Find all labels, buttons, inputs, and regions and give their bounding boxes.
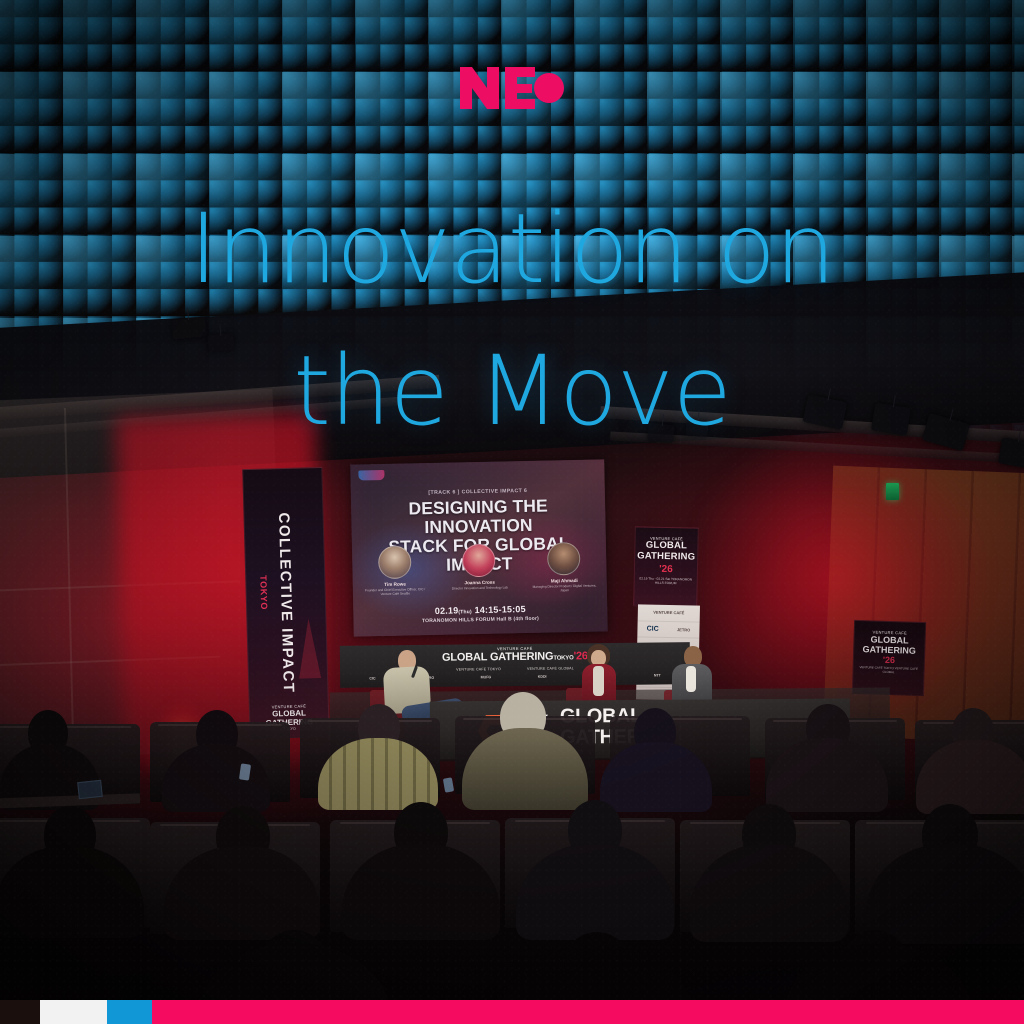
backdrop-sub-right: VENTURE CAFÉ GLOBAL	[527, 666, 574, 670]
headline-line-1: Innovation on	[0, 178, 1024, 320]
sponsor-row-2: CIC JETRO	[637, 621, 699, 639]
screen-title-line-1: DESIGNING THE INNOVATION	[357, 495, 600, 538]
headline-line-2: the Move	[0, 320, 1024, 462]
backdrop-sponsor-3: KDDI	[538, 675, 547, 679]
speaker-photo-1	[378, 545, 412, 579]
banner-left-vertical-text: COLLECTIVE IMPACT	[275, 512, 297, 693]
speaker-role-2: Director Innovation and Technology Lab	[445, 585, 515, 591]
event-poster: COLLECTIVE IMPACT TOKYO VENTURE CAFÉ GLO…	[0, 0, 1024, 1024]
neo-logo-svg	[460, 67, 564, 109]
screen-speaker-2: Joanna Cross Director Innovation and Tec…	[444, 543, 515, 591]
banner-global-gathering-far-right: VENTURE CAFÉ GLOBAL GATHERING '26 VENTUR…	[852, 620, 926, 696]
sponsor-row-1: VENTURE CAFÉ	[638, 604, 700, 622]
bottom-bar-segment-white	[40, 1000, 107, 1024]
speaker-photo-3	[547, 542, 581, 576]
neo-logo	[0, 67, 1024, 114]
panelist-center-shirt	[593, 666, 604, 696]
screen-corner-logo	[358, 470, 384, 481]
screen-speaker-3: Maji Ahmadi Managing Director Product / …	[529, 541, 600, 593]
screen-speaker-list: Tim Rowe Founder and Chief Executive Off…	[352, 541, 607, 596]
speaker-role-1: Founder and Chief Executive Officer, CIC…	[360, 587, 430, 597]
panelist-right-shirt	[686, 666, 696, 692]
bottom-color-bar	[0, 1000, 1024, 1024]
exit-sign	[886, 483, 899, 500]
backdrop-sponsor-2: MUFG	[481, 675, 492, 679]
banner-r2-sub: VENTURE CAFÉ TOKYO VENTURE CAFÉ GLOBAL	[853, 666, 923, 676]
banner-r1-year: '26	[635, 563, 697, 575]
banner-left-vertical-accent: TOKYO	[258, 575, 269, 610]
speaker-role-3: Managing Director Product / Digital Vent…	[529, 583, 599, 593]
banner-r1-title-2: GATHERING	[635, 551, 697, 563]
bottom-bar-segment-cyan	[107, 1000, 152, 1024]
tower-graphic	[297, 618, 321, 679]
screen-time: 14:15-15:05	[474, 604, 525, 615]
conference-photo-background: COLLECTIVE IMPACT TOKYO VENTURE CAFÉ GLO…	[0, 0, 1024, 1024]
speaker-photo-2	[462, 544, 496, 578]
sponsor-logo-0: VENTURE CAFÉ	[653, 610, 684, 616]
bottom-bar-segment-dark	[0, 1000, 40, 1024]
laptop-screen	[77, 780, 103, 799]
presentation-screen: [TRACK 6 ] COLLECTIVE IMPACT 6 DESIGNING…	[350, 459, 608, 636]
audience	[0, 694, 1024, 1024]
bottom-bar-segment-pink	[152, 1000, 1024, 1024]
backdrop-sponsor-0: CIC	[369, 676, 375, 680]
banner-r1-sub: 02.19 Thu - 02.21 Sat TORANOMON HILLS FO…	[635, 576, 697, 585]
sponsor-logo-1: CIC	[647, 625, 659, 632]
screen-date: 02.19	[435, 605, 459, 615]
sponsor-logo-2: JETRO	[677, 627, 690, 632]
phone-screen	[443, 777, 454, 792]
screen-speaker-1: Tim Rowe Founder and Chief Executive Off…	[359, 545, 430, 597]
backdrop-city: TOKYO	[553, 655, 573, 661]
backdrop-sponsor-5: NTT	[654, 673, 661, 677]
screen-date-note: (Thu)	[458, 609, 472, 615]
page-title: Innovation on the Move	[0, 178, 1024, 462]
banner-global-gathering-right: VENTURE CAFÉ GLOBAL GATHERING '26 02.19 …	[633, 526, 699, 607]
